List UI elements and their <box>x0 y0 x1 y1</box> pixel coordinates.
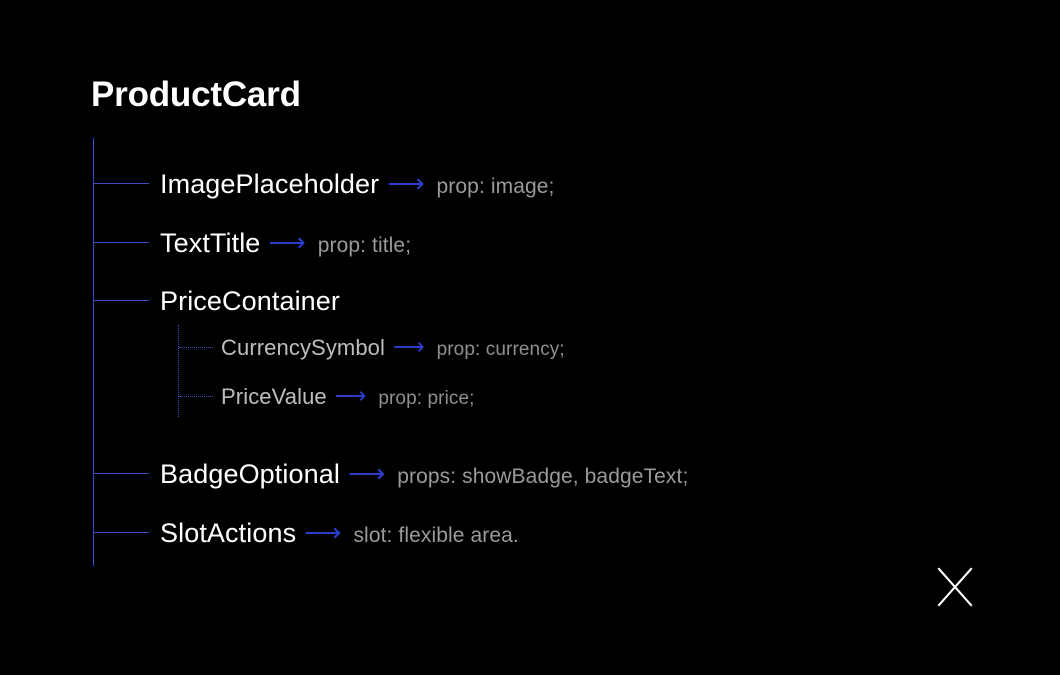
node-label: ImagePlaceholder <box>160 168 379 200</box>
tree-node-image-placeholder[interactable]: ImagePlaceholder ⟶ prop: image; <box>160 168 554 201</box>
branch-connector-badge-optional <box>94 473 149 474</box>
tree-node-currency-symbol[interactable]: CurrencySymbol ⟶ prop: currency; <box>221 334 565 364</box>
slide-canvas: ProductCard ImagePlaceholder ⟶ prop: ima… <box>0 0 1060 675</box>
arrow-right-icon: ⟶ <box>335 382 367 410</box>
x-logo-mark <box>936 566 974 608</box>
node-annotation: props: showBadge, badgeText; <box>397 463 688 491</box>
node-label: TextTitle <box>160 227 260 259</box>
branch-connector-slot-actions <box>94 532 149 533</box>
tree-node-text-title[interactable]: TextTitle ⟶ prop: title; <box>160 227 411 260</box>
branch-connector-currency-symbol <box>179 347 213 348</box>
arrow-right-icon: ⟶ <box>268 228 305 256</box>
node-annotation: prop: image; <box>437 173 555 201</box>
node-label: BadgeOptional <box>160 458 340 490</box>
node-label: SlotActions <box>160 517 296 549</box>
tree-node-badge-optional[interactable]: BadgeOptional ⟶ props: showBadge, badgeT… <box>160 458 688 491</box>
tree-node-price-container[interactable]: PriceContainer <box>160 285 340 317</box>
tree-node-slot-actions[interactable]: SlotActions ⟶ slot: flexible area. <box>160 517 519 550</box>
node-label: PriceContainer <box>160 285 340 317</box>
tree-trunk-nested <box>178 325 179 417</box>
tree-trunk-main <box>93 138 94 566</box>
node-label: PriceValue <box>221 383 327 411</box>
branch-connector-image-placeholder <box>94 183 149 184</box>
arrow-right-icon: ⟶ <box>348 459 385 487</box>
node-annotation: slot: flexible area. <box>353 522 518 550</box>
branch-connector-price-container <box>94 300 149 301</box>
arrow-right-icon: ⟶ <box>387 169 424 197</box>
node-annotation: prop: currency; <box>437 336 565 364</box>
node-annotation: prop: price; <box>378 385 474 413</box>
branch-connector-price-value <box>179 396 213 397</box>
tree-node-price-value[interactable]: PriceValue ⟶ prop: price; <box>221 383 475 413</box>
page-title: ProductCard <box>91 74 301 116</box>
arrow-right-icon: ⟶ <box>304 518 341 546</box>
node-annotation: prop: title; <box>318 232 411 260</box>
node-label: CurrencySymbol <box>221 334 385 362</box>
branch-connector-text-title <box>94 242 149 243</box>
arrow-right-icon: ⟶ <box>393 333 425 361</box>
